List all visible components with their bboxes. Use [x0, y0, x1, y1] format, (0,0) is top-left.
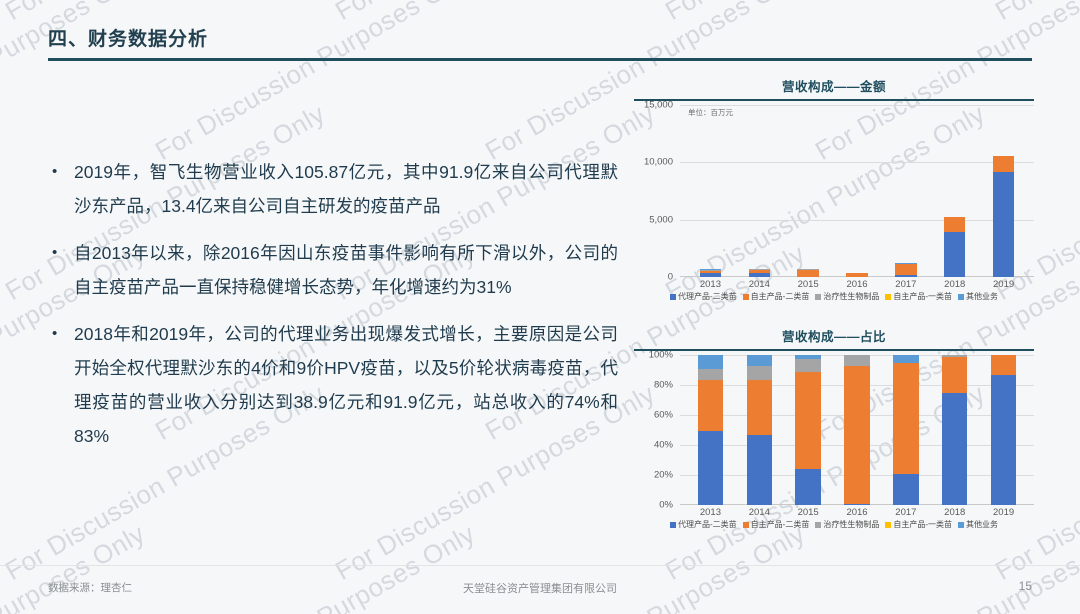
legend-label: 代理产品-二类苗 — [678, 291, 737, 302]
bar-slot — [735, 105, 784, 277]
bar-segment — [797, 270, 818, 277]
bar-segment — [844, 355, 869, 366]
stacked-bar — [942, 355, 967, 505]
legend-item[interactable]: 代理产品-二类苗 — [670, 291, 737, 302]
stacked-bar — [700, 269, 721, 277]
legend-item[interactable]: 治疗性生物制品 — [815, 291, 879, 302]
y-axis-tick-label: 5,000 — [649, 214, 673, 225]
stacked-bar — [944, 217, 965, 277]
bar-segment — [895, 275, 916, 277]
bar-slot — [833, 355, 882, 505]
x-axis-labels: 2013201420152016201720182019 — [680, 507, 1034, 518]
bar-segment — [698, 355, 723, 369]
bar-segment — [795, 372, 820, 470]
bar-slot — [784, 105, 833, 277]
stacked-bar — [993, 156, 1014, 277]
legend-swatch-icon — [670, 294, 676, 300]
chart-title-divider — [634, 99, 1034, 101]
legend-item[interactable]: 治疗性生物制品 — [815, 519, 879, 530]
bar-group — [680, 105, 1034, 277]
bar-slot — [784, 355, 833, 505]
plot-wrapper: 0%20%40%60%80%100% — [634, 355, 1034, 505]
y-axis-tick-label: 15,000 — [644, 100, 673, 111]
watermark-text: For Discussion Purposes Only — [660, 0, 990, 27]
legend-item[interactable]: 代理产品-二类苗 — [670, 519, 737, 530]
bar-segment — [747, 380, 772, 435]
legend-item[interactable]: 其他业务 — [958, 291, 998, 302]
x-axis-tick-label: 2017 — [881, 507, 930, 518]
bullet-item: •自2013年以来，除2016年因山东疫苗事件影响有所下滑以外，公司的自主疫苗产… — [48, 236, 618, 304]
bar-segment — [991, 375, 1016, 506]
x-axis-tick-label: 2016 — [833, 507, 882, 518]
bullet-marker-icon: • — [48, 236, 74, 304]
slide: For Discussion Purposes OnlyFor Discussi… — [0, 0, 1080, 614]
stacked-bar — [749, 269, 770, 277]
bar-segment — [944, 217, 965, 232]
legend-item[interactable]: 自主产品-一类苗 — [885, 291, 952, 302]
legend-label: 治疗性生物制品 — [823, 519, 879, 530]
x-axis-tick-label: 2017 — [881, 279, 930, 290]
bar-slot — [735, 355, 784, 505]
bar-segment — [942, 357, 967, 393]
y-axis-tick-label: 80% — [654, 380, 673, 391]
legend-swatch-icon — [958, 522, 964, 528]
y-axis-tick-label: 100% — [649, 350, 673, 361]
bar-segment — [846, 273, 867, 277]
legend-label: 其他业务 — [966, 291, 998, 302]
bar-segment — [993, 156, 1014, 172]
bar-segment — [895, 264, 916, 275]
legend-item[interactable]: 自主产品-一类苗 — [885, 519, 952, 530]
bar-slot — [979, 355, 1028, 505]
bar-slot — [833, 105, 882, 277]
bullet-marker-icon: • — [48, 155, 74, 223]
bar-segment — [795, 469, 820, 505]
chart-title: 营收构成——占比 — [634, 326, 1034, 345]
bar-segment — [747, 366, 772, 380]
slide-header: 四、财务数据分析 — [48, 28, 1032, 61]
x-axis-tick-label: 2014 — [735, 507, 784, 518]
chart-legend: 代理产品-二类苗自主产品-二类苗治疗性生物制品自主产品-一类苗其他业务 — [634, 519, 1034, 530]
legend-label: 自主产品-二类苗 — [751, 291, 810, 302]
legend-swatch-icon — [670, 522, 676, 528]
bar-slot — [930, 355, 979, 505]
watermark-text: For Discussion Purposes Only — [990, 0, 1080, 27]
slide-footer: 数据来源：理杏仁 天堂硅谷资产管理集团有限公司 15 — [0, 565, 1080, 614]
x-axis-tick-label: 2014 — [735, 279, 784, 290]
bar-segment — [747, 355, 772, 366]
x-axis-tick-label: 2015 — [784, 507, 833, 518]
bar-segment — [698, 380, 723, 431]
bar-segment — [747, 435, 772, 506]
watermark-text: For Discussion Purposes Only — [0, 0, 330, 27]
watermark-text: For Discussion Purposes Only — [150, 0, 480, 167]
stacked-bar — [747, 355, 772, 505]
legend-label: 其他业务 — [966, 519, 998, 530]
bar-slot — [930, 105, 979, 277]
bar-slot — [881, 355, 930, 505]
chart-title: 营收构成——金额 — [634, 76, 1034, 95]
plot-area: 单位：百万元 05,00010,00015,000 — [680, 105, 1034, 277]
plot-area: 0%20%40%60%80%100% — [680, 355, 1034, 505]
x-axis-tick-label: 2013 — [686, 279, 735, 290]
legend-swatch-icon — [743, 294, 749, 300]
y-axis-tick-label: 0% — [659, 500, 673, 511]
chart-title-divider — [634, 349, 1034, 351]
legend-item[interactable]: 自主产品-二类苗 — [743, 291, 810, 302]
bar-segment — [698, 431, 723, 505]
x-axis-labels: 2013201420152016201720182019 — [680, 279, 1034, 290]
page-number: 15 — [1019, 579, 1032, 593]
stacked-bar — [844, 355, 869, 505]
y-axis-tick-label: 60% — [654, 410, 673, 421]
bullet-item: •2018年和2019年，公司的代理业务出现爆发式增长，主要原因是公司开始全权代… — [48, 317, 618, 453]
chart-revenue-amount: 营收构成——金额 单位：百万元 05,00010,00015,000 20132… — [634, 76, 1034, 322]
legend-item[interactable]: 其他业务 — [958, 519, 998, 530]
stacked-bar — [895, 263, 916, 277]
bar-segment — [700, 273, 721, 277]
legend-label: 自主产品-二类苗 — [751, 519, 810, 530]
bar-segment — [942, 393, 967, 505]
bullet-text: 自2013年以来，除2016年因山东疫苗事件影响有所下滑以外，公司的自主疫苗产品… — [74, 236, 618, 304]
bar-segment — [749, 273, 770, 277]
bullet-text: 2018年和2019年，公司的代理业务出现爆发式增长，主要原因是公司开始全权代理… — [74, 317, 618, 453]
legend-label: 代理产品-二类苗 — [678, 519, 737, 530]
bar-slot — [686, 355, 735, 505]
header-divider — [48, 58, 1032, 61]
bar-slot — [979, 105, 1028, 277]
bar-segment — [698, 369, 723, 380]
bar-segment — [844, 366, 869, 504]
bullet-text: 2019年，智飞生物营业收入105.87亿元，其中91.9亿来自公司代理默沙东产… — [74, 155, 618, 223]
bar-segment — [993, 172, 1014, 277]
x-axis-tick-label: 2019 — [979, 279, 1028, 290]
y-axis-tick-label: 10,000 — [644, 157, 673, 168]
bar-segment — [893, 355, 918, 363]
legend-swatch-icon — [885, 294, 891, 300]
stacked-bar — [795, 355, 820, 505]
x-axis-tick-label: 2013 — [686, 507, 735, 518]
bar-segment — [991, 355, 1016, 375]
stacked-bar — [991, 355, 1016, 505]
x-axis-tick-label: 2019 — [979, 507, 1028, 518]
x-axis-tick-label: 2015 — [784, 279, 833, 290]
bullet-list: •2019年，智飞生物营业收入105.87亿元，其中91.9亿来自公司代理默沙东… — [48, 155, 618, 466]
bullet-item: •2019年，智飞生物营业收入105.87亿元，其中91.9亿来自公司代理默沙东… — [48, 155, 618, 223]
y-axis-tick-label: 40% — [654, 440, 673, 451]
watermark-text: For Discussion Purposes Only — [330, 0, 660, 27]
plot-wrapper: 单位：百万元 05,00010,00015,000 — [634, 105, 1034, 277]
bullet-marker-icon: • — [48, 317, 74, 453]
bar-group — [680, 355, 1034, 505]
company-name-label: 天堂硅谷资产管理集团有限公司 — [0, 580, 1080, 596]
legend-swatch-icon — [958, 294, 964, 300]
y-axis-tick-label: 0 — [668, 272, 673, 283]
legend-swatch-icon — [743, 522, 749, 528]
stacked-bar — [893, 355, 918, 505]
legend-label: 自主产品-一类苗 — [893, 291, 952, 302]
stacked-bar — [698, 355, 723, 505]
x-axis-tick-label: 2018 — [930, 279, 979, 290]
y-axis-tick-label: 20% — [654, 470, 673, 481]
legend-swatch-icon — [815, 294, 821, 300]
bar-segment — [893, 474, 918, 506]
legend-item[interactable]: 自主产品-二类苗 — [743, 519, 810, 530]
x-axis-tick-label: 2018 — [930, 507, 979, 518]
legend-swatch-icon — [815, 522, 821, 528]
legend-label: 自主产品-一类苗 — [893, 519, 952, 530]
watermark-text: For Discussion Purposes Only — [0, 0, 150, 167]
page-title: 四、财务数据分析 — [48, 28, 1032, 52]
legend-label: 治疗性生物制品 — [823, 291, 879, 302]
chart-revenue-share: 营收构成——占比 0%20%40%60%80%100% 201320142015… — [634, 326, 1034, 548]
stacked-bar — [797, 269, 818, 277]
stacked-bar — [846, 273, 867, 277]
legend-swatch-icon — [885, 522, 891, 528]
bar-segment — [795, 359, 820, 372]
bar-segment — [944, 232, 965, 277]
bar-segment — [844, 504, 869, 506]
chart-legend: 代理产品-二类苗自主产品-二类苗治疗性生物制品自主产品-一类苗其他业务 — [634, 291, 1034, 302]
x-axis-tick-label: 2016 — [833, 279, 882, 290]
bar-segment — [893, 363, 918, 473]
bar-slot — [686, 105, 735, 277]
bar-slot — [881, 105, 930, 277]
